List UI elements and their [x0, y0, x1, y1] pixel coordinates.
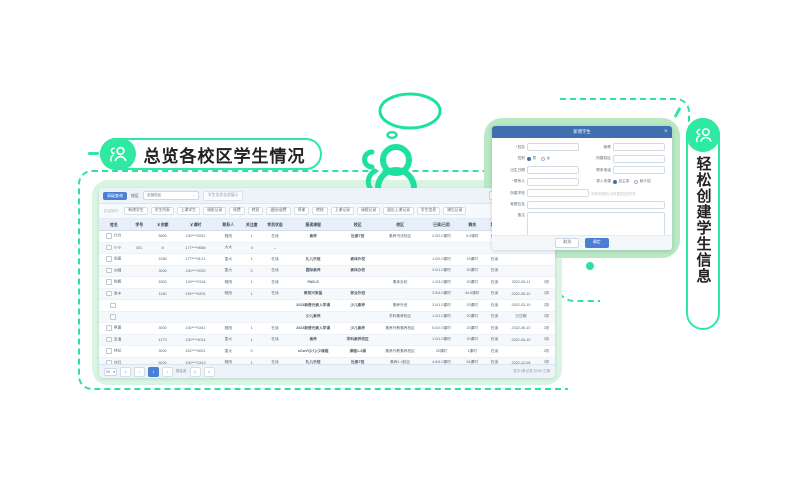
cell-cls: 学科素养校区: [339, 334, 377, 346]
cell-st: 在读: [485, 254, 504, 266]
people-icon: [694, 127, 713, 143]
cell-st: 在读: [485, 311, 504, 323]
illustration-people: [352, 88, 472, 188]
cell-contact: 程阳: [216, 231, 241, 243]
column-header[interactable]: 关注度: [241, 219, 262, 231]
cell-used: 3.0/1.0课时: [423, 265, 459, 277]
toolbar-button[interactable]: 转班: [248, 207, 264, 216]
cell-contact: [216, 300, 241, 312]
cell-st: 在读: [485, 265, 504, 277]
toolbar-button[interactable]: 退出上课记录: [383, 207, 414, 216]
row-checkbox[interactable]: [110, 303, 116, 309]
cell-contact: 童大: [216, 254, 241, 266]
student-table: 姓名学号￥余额￥课时联系人关注度学员状态报读课程校区校区已读/已用剩余状态报名日…: [99, 219, 555, 364]
table-body: 代月5800130****0241程阳1在读素养社素T班素养书法校区2.0/2.…: [99, 231, 555, 365]
cell-used: 1.0/1.0课时: [423, 334, 459, 346]
cell-contact: 大大: [216, 242, 241, 254]
table-row[interactable]: 甘红5200130****2313程阳1在读礼儿乐班社素T班素养1-4校区4.5…: [99, 357, 555, 364]
thought-bubble-dot-icon: [388, 132, 397, 138]
source-referral-label: 转介绍: [640, 179, 651, 184]
cell-date: [504, 346, 538, 358]
cell-sid: [129, 300, 150, 312]
cell-bal: [150, 300, 175, 312]
cell-left: 5.0课时: [459, 231, 484, 243]
address-input[interactable]: [527, 201, 665, 209]
cell-date: 2022-06-11: [504, 277, 538, 289]
cell-date: 已过期: [504, 311, 538, 323]
table-row[interactable]: 刘晴3000130****2032童大0在读国际素养素体办校3.0/1.0课时2…: [99, 265, 555, 277]
cell-sid: [129, 357, 150, 364]
cell-date: 2022-06-10: [504, 323, 538, 335]
cell-rate: 2折: [538, 311, 555, 323]
cell-status: [262, 300, 287, 312]
cell-used: 3.5/4.0课时: [423, 288, 459, 300]
row-checkbox[interactable]: [106, 325, 112, 331]
field-contact: *联系人: [499, 178, 579, 186]
cell-bal: 4770: [150, 334, 175, 346]
vertical-badge-text: 轻松创建学生信息: [696, 156, 711, 284]
field-source: 录入来源 自主录 转介绍: [585, 178, 665, 186]
cell-left: 20课时: [459, 277, 484, 289]
cell-hours: 177****0L21: [175, 254, 215, 266]
remark-label: 备注: [499, 213, 525, 218]
close-icon[interactable]: ✕: [664, 130, 668, 135]
cell-status: 在读: [262, 254, 287, 266]
campus-filter-label: 校区: [131, 193, 139, 199]
cell-st: 在读: [485, 346, 504, 358]
gender-male-label: 男: [533, 156, 537, 161]
cell-cls: 家业外班: [339, 288, 377, 300]
cell-date: 2022-06-10: [504, 334, 538, 346]
cell-rate: 2折: [538, 357, 555, 364]
cell-status: 在读: [262, 231, 287, 243]
row-checkbox[interactable]: [110, 314, 116, 320]
cell-bal: [150, 311, 175, 323]
toolbar-button[interactable]: 课后记录: [443, 207, 466, 216]
field-birthdate: 出生日期: [499, 166, 579, 174]
table-row[interactable]: 小小0018177****9086大大0--: [99, 242, 555, 254]
campus-select[interactable]: ▾: [613, 155, 665, 163]
radio-icon: [541, 157, 545, 161]
cell-focus: 1: [241, 277, 262, 289]
cell-hours: 152****0001: [175, 346, 215, 358]
column-header[interactable]: 校区: [377, 219, 424, 231]
cell-campus: [377, 242, 424, 254]
cell-hours: 130****2032: [175, 265, 215, 277]
cell-used: 5.0/2.0课时: [423, 323, 459, 335]
cell-name-text: 袁丰: [114, 292, 121, 296]
column-header[interactable]: 已读/已用: [423, 219, 459, 231]
table-row[interactable]: 蔡露3500130****0341程阳1在读2023新晋元素入学课少儿素养素养外…: [99, 323, 555, 335]
cell-focus: 0: [241, 242, 262, 254]
table-row[interactable]: 林纪3000152****0001童大0sCwV/少儿/少课程课程1-4课素养外…: [99, 346, 555, 358]
table-row[interactable]: 2023新晋元素入学课少儿素养素养外班3.0/1.0课时20课时在读2022-0…: [99, 300, 555, 312]
cell-sid: [129, 231, 150, 243]
row-checkbox[interactable]: [106, 233, 112, 239]
cell-campus: [377, 288, 424, 300]
toolbar-button[interactable]: 转校: [312, 207, 328, 216]
cell-cls: 社素T班: [339, 357, 377, 364]
cell-focus: 1: [241, 288, 262, 300]
toolbar-button[interactable]: 学生列表: [151, 207, 174, 216]
cell-sid: [129, 254, 150, 266]
cell-bal: 2280: [150, 254, 175, 266]
column-header[interactable]: ￥课时: [175, 219, 215, 231]
birthdate-label: 出生日期: [499, 168, 525, 173]
cell-status: 在读: [262, 265, 287, 277]
cell-contact: [216, 311, 241, 323]
cell-st: 在读: [485, 300, 504, 312]
cell-name: 蔡露: [99, 323, 129, 335]
form-row-gender: 性别 男 女 所属校区 ▾: [499, 155, 665, 163]
cell-name-text: 刘晴: [114, 269, 121, 273]
cell-used: 2.0/2.0课时: [423, 231, 459, 243]
page-size-select[interactable]: 20 ▾: [104, 368, 117, 376]
row-checkbox[interactable]: [106, 279, 112, 285]
cell-contact: 程阳: [216, 288, 241, 300]
cell-name-text: 小小: [114, 246, 121, 250]
cell-bal: 3500: [150, 323, 175, 335]
cell-hours: 130****0341: [175, 323, 215, 335]
cell-date: 2022-12-08: [504, 357, 538, 364]
row-checkbox[interactable]: [106, 291, 112, 297]
form-row-name: *姓名 昵称: [499, 143, 665, 151]
nickname-label: 昵称: [585, 145, 611, 150]
cell-sid: [129, 323, 150, 335]
cell-name: [99, 311, 129, 323]
row-checkbox[interactable]: [106, 245, 112, 251]
toolbar-button[interactable]: 调班记录: [203, 207, 226, 216]
name-input[interactable]: [527, 143, 579, 151]
cell-course: 2023新晋元素入学课: [288, 323, 339, 335]
cell-sid: [129, 311, 150, 323]
cell-used: 20课时: [423, 346, 459, 358]
table-row[interactable]: 倪盛2280177****0L21童大1在读礼儿乐班素体外校1.0/2.0课时1…: [99, 254, 555, 266]
people-icon: [108, 146, 128, 162]
cell-cls: 素体办校: [339, 265, 377, 277]
action-toolbar: 批量操作 新增学生学生列表上课学生调班记录续费转班退班/退费停课转校上课记录请假…: [99, 204, 555, 219]
cell-campus: [377, 334, 424, 346]
cell-course: 素养: [288, 231, 339, 243]
gender-label: 性别: [499, 156, 525, 161]
cell-st: 在读: [485, 334, 504, 346]
cell-rate: 2折: [538, 277, 555, 289]
radio-selected-icon: [613, 180, 617, 184]
cell-campus: 学科素养校区: [377, 311, 424, 323]
cell-cls: 少儿素养: [339, 323, 377, 335]
cell-cls: 少儿素养: [339, 300, 377, 312]
cell-used: [423, 242, 459, 254]
nickname-input[interactable]: [613, 143, 665, 151]
gender-radio-group: 男 女: [527, 156, 579, 161]
cell-used: 1.0/2.0课时: [423, 254, 459, 266]
cell-status: --: [262, 242, 287, 254]
page-size-value: 20: [106, 370, 110, 374]
page-next-button[interactable]: ›: [162, 367, 173, 377]
cell-course: 素养: [288, 334, 339, 346]
goto-page-label: 前往页: [176, 369, 187, 374]
cell-name-text: 陈鹏: [114, 280, 121, 284]
cancel-button[interactable]: 取消: [555, 238, 579, 248]
cell-left: [459, 242, 484, 254]
cell-sid: [129, 288, 150, 300]
cell-campus: 素养外教素养校区: [377, 323, 424, 335]
cell-focus: 1: [241, 231, 262, 243]
cell-bal: 1150: [150, 288, 175, 300]
cell-course: 教育兴家星: [288, 288, 339, 300]
student-table-wrap[interactable]: 姓名学号￥余额￥课时联系人关注度学员状态报读课程校区校区已读/已用剩余状态报名日…: [99, 219, 555, 364]
thought-bubble-icon: [380, 94, 440, 128]
table-row[interactable]: 代月5800130****0241程阳1在读素养社素T班素养书法校区2.0/2.…: [99, 231, 555, 243]
gender-radio-female[interactable]: 女: [541, 156, 550, 161]
column-header[interactable]: 学员状态: [262, 219, 287, 231]
cell-used: 4.5/4.0课时: [423, 357, 459, 364]
cell-name-text: 林纪: [114, 349, 121, 353]
cell-focus: 1: [241, 254, 262, 266]
cell-campus: 素养外教素养校区: [377, 346, 424, 358]
chevron-down-icon: ▾: [661, 157, 662, 159]
pagination-bar: 20 ▾ « ‹ 1 › 前往页 1 » 显示1条记录,共487之第: [99, 364, 555, 378]
chevron-down-icon: ▾: [113, 370, 115, 374]
vertical-badge: 轻松创建学生信息: [686, 118, 720, 330]
cell-contact: 程阳: [216, 357, 241, 364]
source-radio-referral[interactable]: 转介绍: [634, 179, 650, 184]
birthdate-input[interactable]: [527, 166, 579, 174]
person-secondary-icon: [365, 152, 376, 188]
headline-badge: 总览各校区学生情况: [100, 138, 322, 170]
cell-contact: 程阳: [216, 323, 241, 335]
cell-name-text: 蔡露: [114, 326, 121, 330]
row-checkbox[interactable]: [106, 348, 112, 354]
field-name: *姓名: [499, 143, 579, 151]
cell-status: 在读: [262, 288, 287, 300]
advanced-search-button[interactable]: 高级查询: [103, 192, 127, 200]
cell-campus: 素养1-4校区: [377, 357, 424, 364]
cell-rate: [538, 265, 555, 277]
cell-focus: 1: [241, 334, 262, 346]
cell-contact: 童大: [216, 334, 241, 346]
cell-status: 在读: [262, 323, 287, 335]
campus-filter-value: 全部校区: [147, 193, 161, 198]
cell-rate: 2折: [538, 346, 555, 358]
cell-left: 20课时: [459, 311, 484, 323]
field-address: 家庭住址: [499, 201, 665, 209]
cell-name-text: 倪盛: [114, 257, 121, 261]
cell-course: 国际素养: [288, 265, 339, 277]
confirm-button[interactable]: 确定: [585, 238, 609, 248]
table-header-row: 姓名学号￥余额￥课时联系人关注度学员状态报读课程校区校区已读/已用剩余状态报名日…: [99, 219, 555, 231]
cell-left: 54课时: [459, 357, 484, 364]
column-header[interactable]: 剩余: [459, 219, 484, 231]
cell-cls: 社素T班: [339, 231, 377, 243]
column-header[interactable]: 报读课程: [288, 219, 339, 231]
cell-cls: 素体外校: [339, 254, 377, 266]
form-row-remark: 备注: [499, 212, 665, 235]
address-label: 家庭住址: [499, 202, 525, 207]
source-radio-self[interactable]: 自主录: [613, 179, 629, 184]
contact-input[interactable]: [527, 178, 579, 186]
cell-focus: 0: [241, 265, 262, 277]
gender-radio-male[interactable]: 男: [527, 156, 536, 161]
toolbar-button[interactable]: 新增学生: [124, 207, 147, 216]
cell-name: 代月: [99, 231, 129, 243]
modal-title: 新增学生: [573, 129, 591, 135]
cell-date: [504, 254, 538, 266]
row-checkbox[interactable]: [106, 337, 112, 343]
headline-badge-pill: [100, 138, 136, 170]
table-row[interactable]: 李清4770130****4014童大1在读素养学科素养校区1.0/1.0课时2…: [99, 334, 555, 346]
contact-label: *联系人: [499, 179, 525, 184]
goto-page-input[interactable]: 1: [190, 367, 201, 377]
field-school: 所属学校 不填写则默认为所属校区的学校: [499, 189, 665, 197]
toolbar-button[interactable]: 学生信息: [417, 207, 440, 216]
cell-campus: 素养书法校区: [377, 231, 424, 243]
column-header[interactable]: ￥余额: [150, 219, 175, 231]
cell-focus: 1: [241, 357, 262, 364]
row-checkbox[interactable]: [106, 268, 112, 274]
school-label: 所属学校: [499, 191, 525, 196]
toolbar-button[interactable]: 上课学生: [177, 207, 200, 216]
cell-sid: [129, 346, 150, 358]
cell-name: 倪盛: [99, 254, 129, 266]
cell-bal: 5300: [150, 277, 175, 289]
cell-name: 李清: [99, 334, 129, 346]
page-current-button[interactable]: 1: [148, 367, 159, 377]
connector-dot: [586, 262, 594, 270]
source-radio-group: 自主录 转介绍: [613, 179, 665, 184]
cell-focus: 0: [241, 346, 262, 358]
school-input[interactable]: [527, 189, 589, 197]
badge-tick-left: [88, 152, 99, 155]
cell-used: 1.0/1.0课时: [423, 311, 459, 323]
cell-st: 在读: [485, 288, 504, 300]
page-prev-button[interactable]: ‹: [134, 367, 145, 377]
cell-course: 少儿素养: [288, 311, 339, 323]
show-all-chip[interactable]: 学生信息全部展示: [203, 191, 243, 201]
form-row-contact: *联系人 录入来源 自主录 转介绍: [499, 178, 665, 186]
field-nickname: 昵称: [585, 143, 665, 151]
cell-bal: 8: [150, 242, 175, 254]
table-row[interactable]: 陈鹏5300139****0118程阳1在读PAD-S素体办校1.0/3.0课时…: [99, 277, 555, 289]
student-list-window: 高级查询 校区 全部校区 ▾ 学生信息全部展示 请输入姓名 批量操作 新增学生学…: [99, 188, 555, 378]
screenshot-stage: 高级查询 校区 全部校区 ▾ 学生信息全部展示 请输入姓名 批量操作 新增学生学…: [0, 0, 800, 500]
cell-campus: 素体办校: [377, 277, 424, 289]
cell-course: PAD-S: [288, 277, 339, 289]
source-self-label: 自主录: [619, 179, 630, 184]
cell-status: [262, 311, 287, 323]
cell-name: 甘红: [99, 357, 129, 364]
cell-date: 2022-03-10: [504, 300, 538, 312]
cell-hours: 139****0Z01: [175, 288, 215, 300]
cell-used: 1.0/3.0课时: [423, 277, 459, 289]
cell-used: 3.0/1.0课时: [423, 300, 459, 312]
cell-st: 在读: [485, 357, 504, 364]
cell-name: [99, 300, 129, 312]
cell-course: 礼儿乐班: [288, 254, 339, 266]
column-header[interactable]: 学号: [129, 219, 150, 231]
column-header[interactable]: 校区: [339, 219, 377, 231]
remark-textarea[interactable]: [527, 212, 665, 235]
person-body-icon: [378, 170, 414, 188]
cell-rate: 2折: [538, 288, 555, 300]
chevron-down-icon: ▾: [194, 194, 195, 196]
toolbar-button[interactable]: 续费: [229, 207, 245, 216]
cell-left: 19课时: [459, 254, 484, 266]
column-header[interactable]: 姓名: [99, 219, 129, 231]
cell-rate: 2折: [538, 334, 555, 346]
table-row[interactable]: 少儿素养学科素养校区1.0/1.0课时20课时在读已过期2折: [99, 311, 555, 323]
gender-female-label: 女: [547, 156, 551, 161]
cell-campus: 素养外班: [377, 300, 424, 312]
cell-left: 20课时: [459, 334, 484, 346]
cell-name: 林纪: [99, 346, 129, 358]
toolbar-button[interactable]: 上课记录: [331, 207, 354, 216]
cell-date: 2022-06-10: [504, 288, 538, 300]
cell-rate: 2折: [538, 300, 555, 312]
cell-cls: [339, 242, 377, 254]
cell-hours: [175, 311, 215, 323]
toolbar-button[interactable]: 退班/退费: [266, 207, 290, 216]
cell-focus: [241, 311, 262, 323]
name-label: *姓名: [499, 145, 525, 150]
form-row-school: 所属学校 不填写则默认为所属校区的学校: [499, 189, 665, 197]
school-hint: 不填写则默认为所属校区的学校: [591, 191, 636, 196]
phone-label: 联系电话: [585, 168, 611, 173]
cell-rate: [538, 254, 555, 266]
cell-campus: [377, 254, 424, 266]
modal-title-bar: 新增学生 ✕: [492, 126, 672, 138]
cell-bal: 5200: [150, 357, 175, 364]
cell-sid: [129, 334, 150, 346]
cell-bal: 3000: [150, 265, 175, 277]
form-row-birth: 出生日期 联系电话: [499, 166, 665, 174]
cell-hours: 130****4014: [175, 334, 215, 346]
cell-status: 在读: [262, 277, 287, 289]
cell-sid: 001: [129, 242, 150, 254]
cell-contact: 童大: [216, 265, 241, 277]
cell-hours: 177****9086: [175, 242, 215, 254]
cell-course: 礼儿乐班: [288, 357, 339, 364]
cell-name: 袁丰: [99, 288, 129, 300]
cell-hours: 139****0118: [175, 277, 215, 289]
toolbar-button[interactable]: 停课: [294, 207, 310, 216]
cell-cls: [339, 311, 377, 323]
cell-course: 2023新晋元素入学课: [288, 300, 339, 312]
headline-badge-text: 总览各校区学生情况: [144, 142, 306, 167]
cell-name-text: 李清: [114, 338, 121, 342]
radio-icon: [634, 180, 638, 184]
cell-hours: [175, 300, 215, 312]
modal-form: *姓名 昵称 性别 男 女 所属校区: [492, 138, 672, 235]
cell-course: [288, 242, 339, 254]
toolbar-button[interactable]: 请假记录: [357, 207, 380, 216]
form-row-address: 家庭住址: [499, 201, 665, 209]
column-header[interactable]: 联系人: [216, 219, 241, 231]
row-checkbox[interactable]: [106, 256, 112, 262]
field-remark: 备注: [499, 212, 665, 235]
campus-filter-select[interactable]: 全部校区 ▾: [143, 191, 199, 200]
table-row[interactable]: 袁丰1150139****0Z01程阳1在读教育兴家星家业外班3.5/4.0课时…: [99, 288, 555, 300]
page-first-button[interactable]: «: [120, 367, 131, 377]
cell-date: [504, 265, 538, 277]
cell-st: 在读: [485, 323, 504, 335]
page-last-button[interactable]: »: [204, 367, 215, 377]
phone-input[interactable]: [613, 166, 665, 174]
cell-status: 在读: [262, 334, 287, 346]
toolbar-muted-label: 批量操作: [104, 209, 118, 214]
filter-bar: 高级查询 校区 全部校区 ▾ 学生信息全部展示 请输入姓名: [99, 188, 555, 204]
cell-name: 陈鹏: [99, 277, 129, 289]
